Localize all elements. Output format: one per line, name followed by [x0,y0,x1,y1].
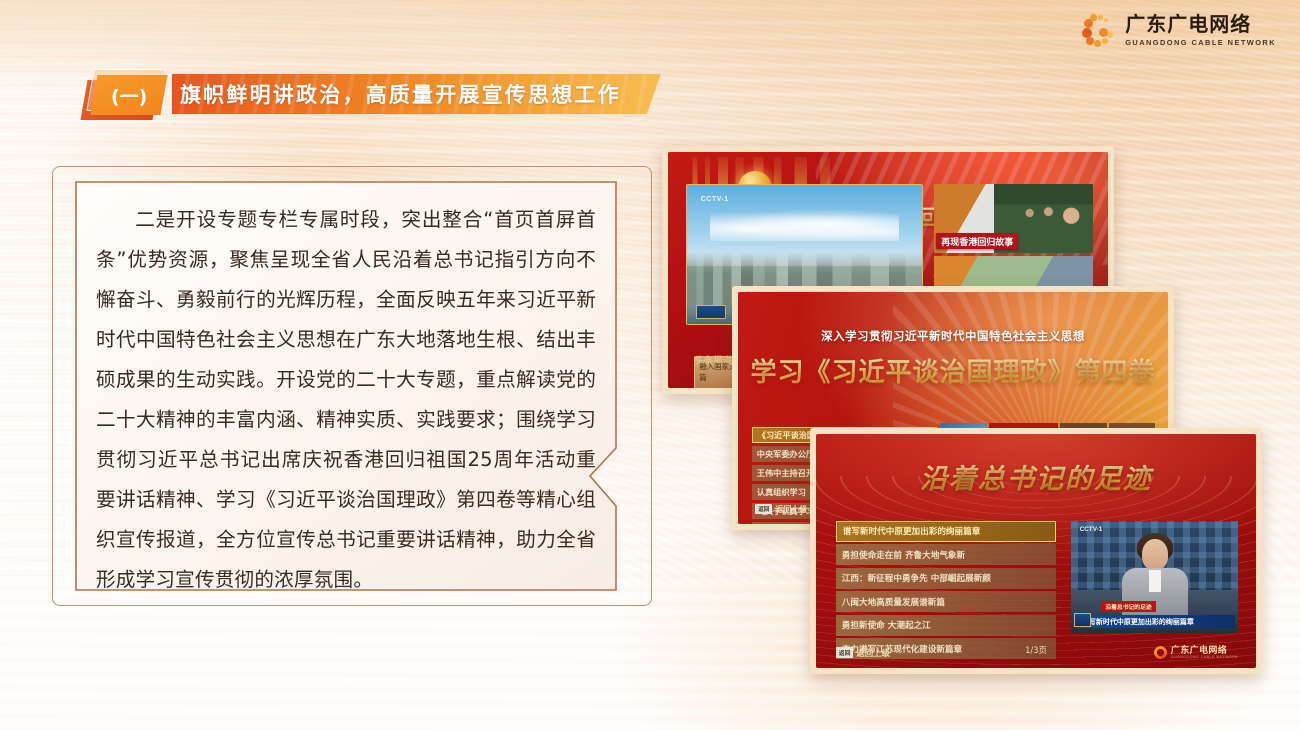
section-number-tag: (一) [86,74,172,114]
brand-name-cn: 广东广电网络 [1125,15,1276,35]
brand-name-en: GUANGDONG CABLE NETWORK [1125,39,1276,46]
cctv-channel-bug: CCTV-1 [701,196,729,203]
list-item[interactable]: 勇担新使命 大潮起之江 [836,615,1056,636]
zgl-title: 学习《习近平谈治国理政》第四卷 [738,352,1168,389]
broadcaster-watermark-icon [696,305,726,319]
zgl-subtitle: 深入学习贯彻习近平新时代中国特色社会主义思想 [738,328,1168,344]
section-title-text: 旗帜鲜明讲政治，高质量开展宣传思想工作 [180,79,621,109]
guangdong-cable-g-logo-icon [1082,14,1116,48]
section-banner: (一) 旗帜鲜明讲政治，高质量开展宣传思想工作 [86,74,661,114]
back-label: 返回上级 [775,504,807,515]
list-item[interactable]: 勇担使命走在前 齐鲁大地气象新 [836,544,1056,565]
hk25-thumbnail-caption: 再现香港回归故事 [936,233,1018,249]
screenshot-card-zuji[interactable]: 沿着总书记的足迹 谱写新时代中原更加出彩的绚丽篇章 勇担使命走在前 齐鲁大地气象… [810,428,1262,674]
content-speech-bubble: 二是开设专题专栏专属时段，突出整合“首页首屏首条”优势资源，聚焦呈现全省人民沿着… [70,176,622,596]
guangdong-cable-g-logo-icon [1154,646,1167,659]
bubble-paragraph: 二是开设专题专栏专属时段，突出整合“首页首屏首条”优势资源，聚焦呈现全省人民沿着… [96,200,596,574]
zgl-back-button[interactable]: 返回 返回上级 [755,504,807,515]
zuji-video-player[interactable]: CCTV-1 沿着总书记的足迹 谱写新时代中原更加出彩的绚丽篇章 [1071,521,1238,633]
zuji-logo-cn: 广东广电网络 [1171,646,1239,655]
cctv-channel-bug: CCTV-1 [1080,526,1103,533]
zuji-logo-en: GUANGDONG CABLE NETWORK [1171,656,1239,660]
hk25-video-clouds [710,210,898,241]
zuji-news-list: 谱写新时代中原更加出彩的绚丽篇章 勇担使命走在前 齐鲁大地气象新 江西：新征程中… [836,521,1056,662]
list-item[interactable]: 八闽大地高质量发展谱新篇 [836,591,1056,612]
section-title-bar: 旗帜鲜明讲政治，高质量开展宣传思想工作 [172,74,661,114]
list-item[interactable]: 江西：新征程中勇争先 中部崛起展新颜 [836,568,1056,589]
news-anchor-face [1142,539,1168,570]
tag-layer-front: (一) [90,75,167,115]
video-lower-third: 沿着总书记的足迹 谱写新时代中原更加出彩的绚丽篇章 [1071,596,1238,628]
list-item[interactable]: 谱写新时代中原更加出彩的绚丽篇章 [836,521,1056,542]
back-key-hint: 返回 [755,504,772,514]
ticker-program-name: 沿着总书记的足迹 [1101,601,1155,612]
ticker-headline: 谱写新时代中原更加出彩的绚丽篇章 [1078,615,1235,628]
section-number-label: (一) [111,82,147,109]
brand-logo: 广东广电网络 GUANGDONG CABLE NETWORK [1082,14,1276,48]
hk25-thumbnail[interactable]: 再现香港回归故事 [934,184,1092,253]
slide-canvas: 广东广电网络 GUANGDONG CABLE NETWORK (一) 旗帜鲜明讲… [0,0,1300,730]
zuji-title: 沿着总书记的足迹 [816,457,1256,496]
news-anchor-shirt [1149,570,1161,592]
zuji-broadcaster-logo: 广东广电网络 GUANGDONG CABLE NETWORK [1154,646,1239,660]
broadcaster-watermark-icon [1074,613,1091,627]
